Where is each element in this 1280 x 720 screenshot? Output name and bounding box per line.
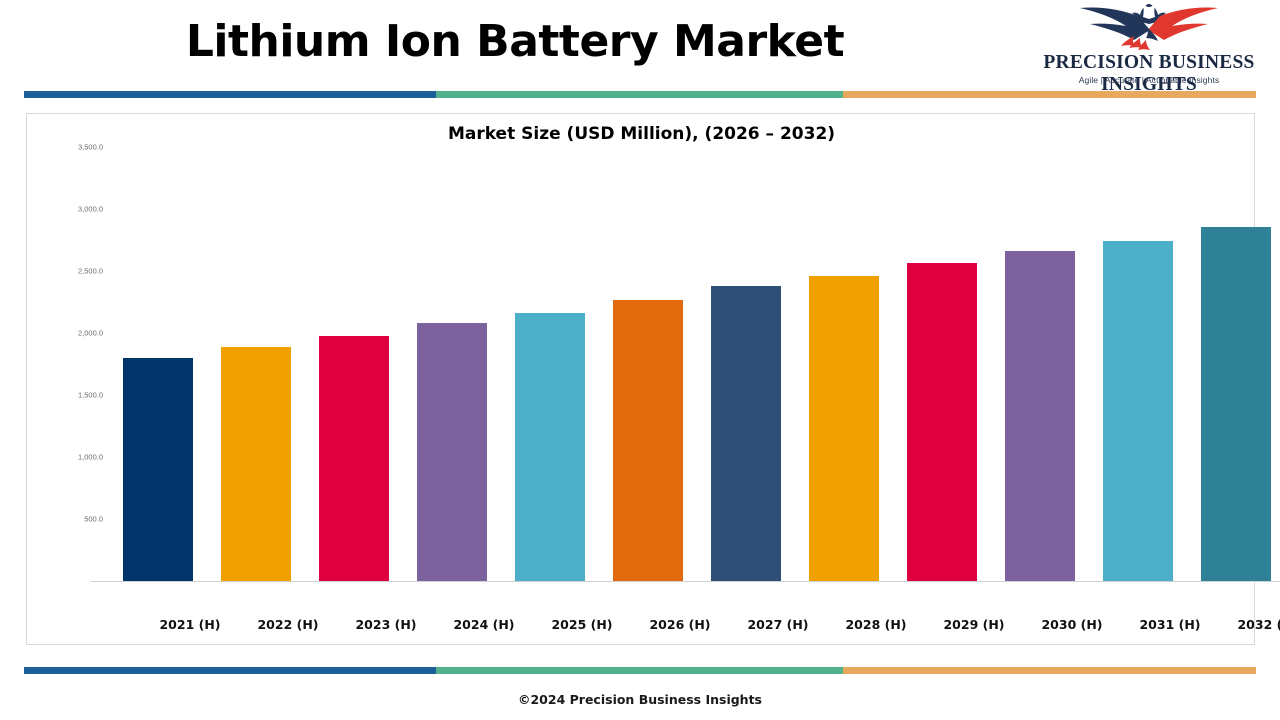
x-axis-tick-label: 2026 (H) (631, 617, 729, 632)
bar-slot (305, 147, 403, 581)
divider-segment-green (436, 91, 843, 98)
y-axis-tick-label: 1,500.0 (59, 391, 103, 400)
bar-slot (893, 147, 991, 581)
bar-series (109, 147, 1280, 581)
divider-top (0, 91, 1280, 99)
chart-panel: Market Size (USD Million), (2026 – 2032)… (26, 113, 1255, 645)
x-axis-tick-label: 2021 (H) (141, 617, 239, 632)
bar-2029[interactable] (907, 263, 977, 581)
divider-segment-orange (843, 91, 1256, 98)
eagle-logo-icon (1074, 0, 1224, 52)
y-axis-tick-label: 1,000.0 (59, 453, 103, 462)
company-logo: PRECISION BUSINESS INSIGHTS Agile | Accu… (1024, 0, 1274, 88)
y-axis-tick-label: 500.0 (59, 515, 103, 524)
divider-segment-blue-2 (24, 667, 436, 674)
bar-2028[interactable] (809, 276, 879, 581)
bar-slot (795, 147, 893, 581)
x-axis-tick-label: 2023 (H) (337, 617, 435, 632)
x-axis-labels: 2021 (H)2022 (H)2023 (H)2024 (H)2025 (H)… (141, 617, 1280, 643)
bar-slot (207, 147, 305, 581)
bar-2022[interactable] (221, 347, 291, 581)
y-axis-tick-label: 2,500.0 (59, 267, 103, 276)
divider-bottom (0, 667, 1280, 675)
bar-slot (403, 147, 501, 581)
bar-2024[interactable] (417, 323, 487, 581)
bar-2025[interactable] (515, 313, 585, 581)
bar-slot (697, 147, 795, 581)
bar-2021[interactable] (123, 358, 193, 581)
x-axis-tick-label: 2027 (H) (729, 617, 827, 632)
x-axis-tick-label: 2032 (H) (1219, 617, 1280, 632)
y-axis-tick-label: 3,500.0 (59, 143, 103, 152)
divider-segment-blue (24, 91, 436, 98)
y-axis: -500.01,000.01,500.02,000.02,500.03,000.… (59, 147, 107, 582)
bar-slot (109, 147, 207, 581)
y-axis-tick-label: 2,000.0 (59, 329, 103, 338)
bar-slot (599, 147, 697, 581)
bar-2032[interactable] (1201, 227, 1271, 581)
x-axis-tick-label: 2028 (H) (827, 617, 925, 632)
x-axis-tick-label: 2024 (H) (435, 617, 533, 632)
bar-2027[interactable] (711, 286, 781, 581)
bar-slot (1089, 147, 1187, 581)
logo-company-name: PRECISION BUSINESS INSIGHTS (1024, 52, 1274, 96)
divider-segment-orange-2 (843, 667, 1256, 674)
y-axis-tick-label: 3,000.0 (59, 205, 103, 214)
footer-copyright: ©2024 Precision Business Insights (0, 692, 1280, 707)
x-axis-tick-label: 2030 (H) (1023, 617, 1121, 632)
x-axis-tick-label: 2022 (H) (239, 617, 337, 632)
divider-segment-green-2 (436, 667, 843, 674)
bar-slot (1187, 147, 1280, 581)
x-axis-tick-label: 2029 (H) (925, 617, 1023, 632)
x-axis-tick-label: 2025 (H) (533, 617, 631, 632)
x-axis-tick-label: 2031 (H) (1121, 617, 1219, 632)
bar-2030[interactable] (1005, 251, 1075, 581)
plot-area: -500.01,000.01,500.02,000.02,500.03,000.… (59, 147, 1253, 582)
bar-2023[interactable] (319, 336, 389, 581)
page-header: Lithium Ion Battery Market PRECISION BUS… (0, 0, 1280, 88)
logo-tagline: Agile | Accurate | Actionable Insights (1024, 75, 1274, 85)
bar-slot (991, 147, 1089, 581)
bar-slot (501, 147, 599, 581)
bar-2026[interactable] (613, 300, 683, 581)
page-title: Lithium Ion Battery Market (0, 16, 1030, 67)
chart-title: Market Size (USD Million), (2026 – 2032) (27, 124, 1256, 144)
bar-2031[interactable] (1103, 241, 1173, 581)
x-axis-line (91, 581, 1280, 582)
